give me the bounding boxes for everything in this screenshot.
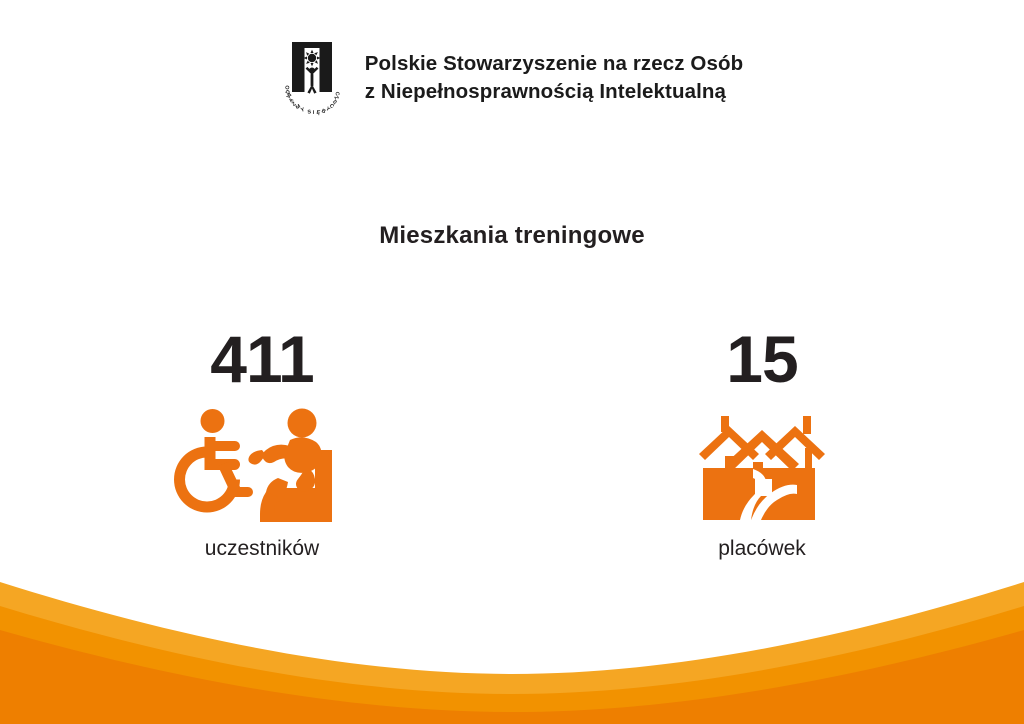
three-houses-icon	[695, 406, 829, 526]
stat-facilities: 15	[602, 326, 922, 561]
wheelchair-user-and-seated-person-icon	[174, 406, 350, 526]
stat-facilities-label: placówek	[718, 536, 806, 561]
stat-participants-value: 411	[210, 326, 313, 392]
psoni-logo-icon: O D W A Ż M Y S I Ę B Y Ć S Z C	[281, 40, 343, 116]
svg-text:Y: Y	[300, 107, 306, 114]
bottom-wave-decoration	[0, 564, 1024, 724]
statistics-group: 411	[0, 326, 1024, 561]
organization-name: Polskie Stowarzyszenie na rzecz Osób z N…	[365, 50, 743, 105]
svg-text:S: S	[307, 109, 312, 115]
section-title: Mieszkania treningowe	[0, 222, 1024, 250]
brand-header: O D W A Ż M Y S I Ę B Y Ć S Z C Polskie …	[0, 40, 1024, 116]
stat-participants: 411	[102, 326, 422, 561]
stat-facilities-value: 15	[726, 326, 797, 392]
svg-text:I: I	[312, 110, 314, 116]
stat-participants-label: uczestników	[205, 536, 319, 561]
infographic-poster: O D W A Ż M Y S I Ę B Y Ć S Z C Polskie …	[0, 0, 1024, 724]
